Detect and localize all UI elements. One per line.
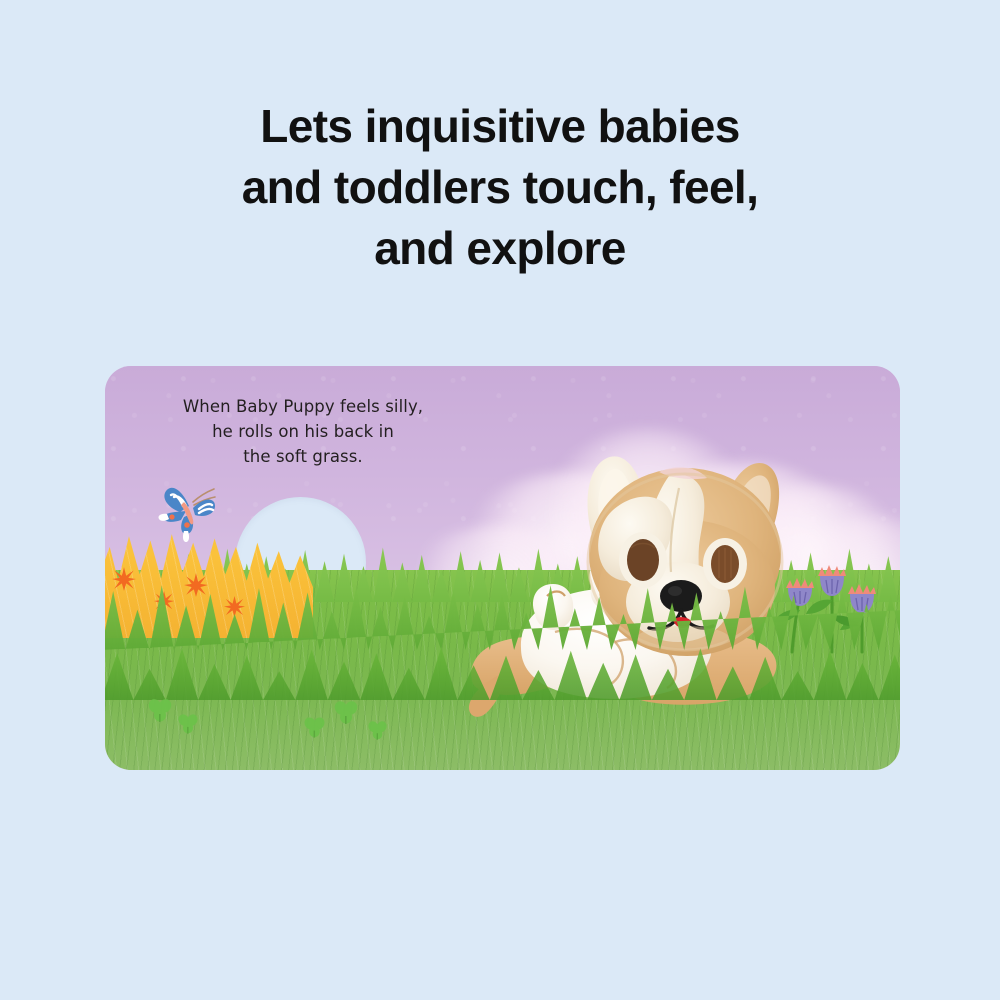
story-text: When Baby Puppy feels silly, he rolls on… [143,394,463,469]
clover-icon [367,720,388,740]
clover-icon [147,698,173,722]
story-line-2: he rolls on his back in [143,419,463,444]
bush-flower-icon [111,566,137,592]
board-book-page: When Baby Puppy feels silly, he rolls on… [105,366,900,770]
butterfly-icon [153,478,225,544]
headline-line-1: Lets inquisitive babies [0,96,1000,157]
bush-flower-icon [183,572,209,598]
clover-icon [333,700,359,724]
page-title: Lets inquisitive babies and toddlers tou… [0,96,1000,279]
clover-icon [303,716,326,738]
puppy-eye-left [619,532,667,588]
puppy-eye-right [703,538,747,590]
headline-line-3: and explore [0,218,1000,279]
page-root: Lets inquisitive babies and toddlers tou… [0,0,1000,1000]
clover-icon [177,713,199,734]
story-line-3: the soft grass. [143,444,463,469]
headline-line-2: and toddlers touch, feel, [0,157,1000,218]
story-line-1: When Baby Puppy feels silly, [143,394,463,419]
